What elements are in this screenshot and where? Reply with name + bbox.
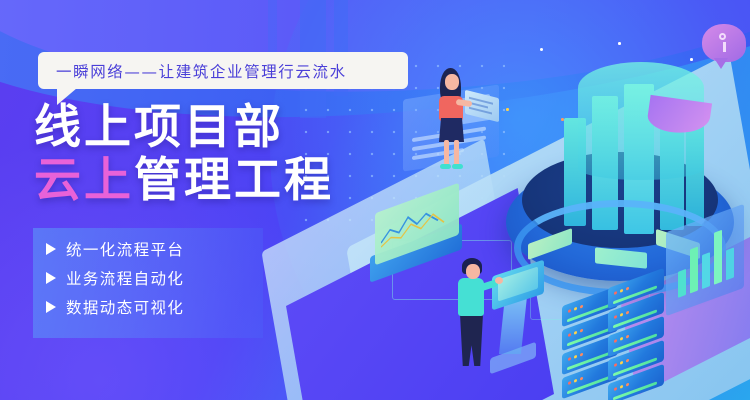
list-item-label: 统一化流程平台 [66, 238, 184, 260]
man-at-kiosk-figure [452, 258, 514, 378]
list-item: 数据动态可视化 [46, 294, 184, 319]
led-red [614, 363, 617, 367]
tagline-text: 一瞬网络——让建筑企业管理行云流水 [56, 60, 347, 82]
server-rack [608, 278, 664, 398]
led-red [568, 357, 571, 361]
chart-bar [726, 247, 734, 280]
triangle-right-icon [46, 243, 56, 255]
list-item-label: 数据动态可视化 [66, 296, 184, 318]
led-yellow [574, 331, 577, 335]
chart-bar [702, 252, 710, 289]
led-orange [626, 287, 629, 291]
led-orange [626, 359, 629, 363]
led-red [568, 381, 571, 385]
headline-line-1: 线上项目部 [34, 104, 454, 151]
list-item-label: 业务流程自动化 [66, 267, 184, 289]
headline-rest-text: 管理工程 [134, 153, 334, 208]
head [445, 74, 459, 90]
key-speech-bubble-icon [702, 24, 746, 62]
list-item: 业务流程自动化 [46, 265, 184, 290]
illustration [410, 0, 750, 400]
led-yellow [620, 313, 623, 317]
led-red [614, 339, 617, 343]
led-red [614, 315, 617, 319]
promo-banner: 一瞬网络——让建筑企业管理行云流水 线上项目部 云上管理工程 统一化流程平台 业… [0, 0, 750, 400]
led-yellow [620, 289, 623, 293]
e-swirl-logo-icon [588, 25, 708, 133]
led-orange [580, 329, 583, 333]
list-item: 统一化流程平台 [46, 236, 184, 261]
led-orange [626, 335, 629, 339]
led-orange [626, 383, 629, 387]
led-yellow [574, 355, 577, 359]
led-yellow [574, 379, 577, 383]
led-orange [580, 305, 583, 309]
board-line [469, 107, 492, 115]
feature-list: 统一化流程平台 业务流程自动化 数据动态可视化 [46, 236, 184, 323]
led-red [614, 387, 617, 391]
led-red [568, 309, 571, 313]
headline-line-2: 云上管理工程 [34, 157, 454, 204]
headline-accent-text: 云上 [34, 153, 134, 208]
led-red [614, 291, 617, 295]
led-orange [580, 377, 583, 381]
chart-bar [678, 269, 686, 298]
led-orange [626, 311, 629, 315]
legs [460, 314, 483, 366]
led-yellow [620, 385, 623, 389]
chart-bar [690, 247, 698, 294]
hand [495, 277, 503, 284]
page-title: 线上项目部 云上管理工程 [34, 104, 454, 204]
head [466, 264, 480, 279]
led-yellow [620, 361, 623, 365]
triangle-right-icon [46, 272, 56, 284]
led-yellow [574, 307, 577, 311]
chart-bar [714, 230, 722, 285]
led-orange [580, 353, 583, 357]
triangle-right-icon [46, 301, 56, 313]
key-icon [719, 33, 726, 40]
tagline-speech-bubble: 一瞬网络——让建筑企业管理行云流水 [38, 52, 408, 89]
leg [454, 140, 459, 166]
led-red [568, 333, 571, 337]
led-yellow [620, 337, 623, 341]
